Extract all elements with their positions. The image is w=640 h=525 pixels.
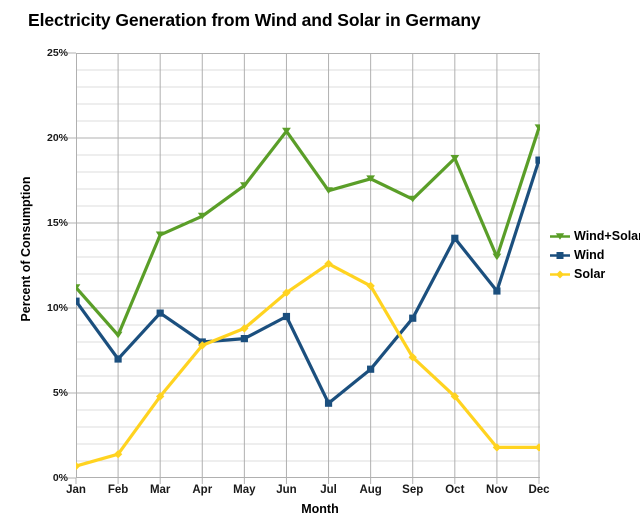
y-tick-label: 0% [53,472,68,484]
legend-marker-icon [549,250,571,261]
x-tick-label: Aug [359,484,381,496]
y-tick-label: 10% [47,302,68,314]
x-tick-label: Nov [486,484,508,496]
data-point [325,400,332,407]
data-point [493,287,500,294]
chart-container: Electricity Generation from Wind and Sol… [0,0,640,520]
data-point [114,355,121,362]
legend-item-wind[interactable]: Wind [549,247,640,264]
legend-marker-icon [549,231,571,242]
data-point [76,298,80,305]
y-tick-label: 15% [47,217,68,229]
x-axis-title: Month [0,502,640,516]
x-tick-label: Feb [108,484,128,496]
x-tick-label: Mar [150,484,170,496]
y-tick-label: 20% [47,132,68,144]
data-point [451,235,458,242]
data-point [367,366,374,373]
x-tick-label: Jan [66,484,86,496]
series-wind-plus-solar [76,124,540,338]
legend-item-solar[interactable]: Solar [549,266,640,283]
x-tick-label: Sep [402,484,423,496]
legend-marker-icon [549,269,571,280]
legend-label: Wind [574,249,604,262]
x-tick-label: Dec [528,484,549,496]
x-tick-label: Jun [276,484,296,496]
x-tick-label: May [233,484,255,496]
data-point [409,315,416,322]
x-tick-label: Apr [192,484,212,496]
x-tick-label: Jul [320,484,337,496]
y-axis-tick-labels: 0%5%10%15%20%25% [0,0,68,520]
plot-area [76,53,540,478]
y-axis-title: Percent of Consumption [19,119,33,379]
data-point [76,462,80,470]
data-point [283,313,290,320]
data-point [157,310,164,317]
x-tick-label: Oct [445,484,464,496]
gridlines-minor [76,70,540,461]
data-point [535,157,540,164]
legend-item-wind-plus-solar[interactable]: Wind+Solar [549,228,640,245]
chart-title: Electricity Generation from Wind and Sol… [28,10,481,31]
y-tick-label: 25% [47,47,68,59]
data-point [241,335,248,342]
chart-legend: Wind+SolarWindSolar [549,228,640,283]
y-tick-label: 5% [53,387,68,399]
data-point [114,332,123,339]
plot-svg [76,53,540,478]
legend-label: Solar [574,268,605,281]
legend-label: Wind+Solar [574,230,640,243]
